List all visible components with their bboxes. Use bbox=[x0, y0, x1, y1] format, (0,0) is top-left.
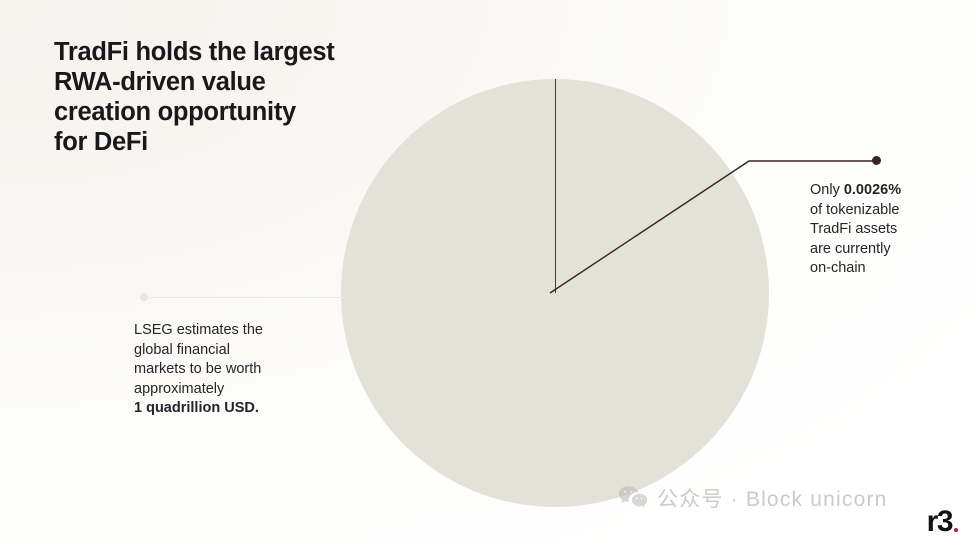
page-title: TradFi holds the largest RWA-driven valu… bbox=[54, 37, 384, 157]
pie-chart bbox=[341, 79, 769, 507]
callout-left-line-4: approximately bbox=[134, 380, 334, 400]
r3-logo-text: r3 bbox=[927, 508, 952, 536]
callout-left-line-5: 1 quadrillion USD. bbox=[134, 399, 334, 419]
callout-left-line-3: markets to be worth bbox=[134, 360, 334, 380]
leader-line-left bbox=[148, 297, 344, 298]
watermark: 公众号 · Block unicorn bbox=[618, 483, 888, 513]
market-size-callout: LSEG estimates the global financial mark… bbox=[134, 321, 334, 419]
callout-right-line-4: are currently bbox=[810, 240, 960, 260]
callout-right-prefix: Only bbox=[810, 182, 844, 198]
tokenization-share-callout: Only 0.0026% of tokenizable TradFi asset… bbox=[810, 181, 960, 279]
leader-dot-right bbox=[872, 156, 881, 165]
r3-logo-dot bbox=[954, 528, 958, 532]
callout-right-line-2: of tokenizable bbox=[810, 201, 960, 221]
callout-right-line-1: Only 0.0026% bbox=[810, 181, 960, 201]
callout-right-percent: 0.0026% bbox=[844, 182, 901, 198]
callout-left-line-2: global financial bbox=[134, 341, 334, 361]
callout-left-line-1: LSEG estimates the bbox=[134, 321, 334, 341]
callout-right-line-5: on-chain bbox=[810, 259, 960, 279]
callout-right-line-3: TradFi assets bbox=[810, 220, 960, 240]
watermark-text: 公众号 · Block unicorn bbox=[657, 483, 888, 513]
slide-canvas: TradFi holds the largest RWA-driven valu… bbox=[0, 0, 972, 543]
leader-dot-left bbox=[140, 293, 148, 301]
wechat-icon bbox=[618, 485, 648, 511]
r3-logo: r3 bbox=[927, 508, 958, 536]
